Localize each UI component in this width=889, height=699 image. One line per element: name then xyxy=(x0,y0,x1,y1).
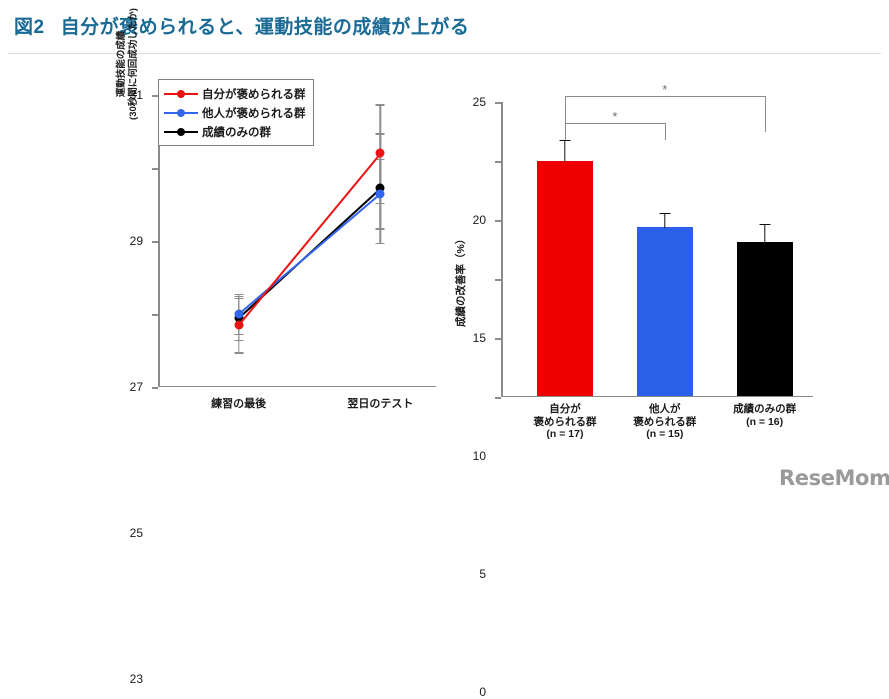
bar-chart: 成績の改善率（%） 0510152025自分が褒められる群(n = 17)他人が… xyxy=(445,77,845,437)
x-axis-label-line: 成績のみの群 xyxy=(733,403,796,416)
legend-label: 自分が褒められる群 xyxy=(202,86,306,102)
x-axis-tick-label: 翌日のテスト xyxy=(347,395,413,411)
x-axis-label-line: 褒められる群 xyxy=(633,416,696,429)
error-bar-cap xyxy=(234,340,243,341)
y-axis-tick-label: 27 xyxy=(130,380,143,394)
watermark-text: ReseMom xyxy=(779,466,889,490)
y-axis-tick: 25 xyxy=(152,314,158,316)
page-title: 図2自分が褒められると、運動技能の成績が上がる xyxy=(14,12,889,39)
significance-outer-star: * xyxy=(662,83,667,96)
error-bar-cap xyxy=(234,352,243,353)
data-point xyxy=(376,149,385,158)
bar xyxy=(537,161,593,396)
y-axis-tick-label: 5 xyxy=(479,567,486,581)
x-axis-label-line: (n = 16) xyxy=(733,416,796,429)
bar-chart-plot-area: 0510152025自分が褒められる群(n = 17)他人が褒められる群(n =… xyxy=(501,102,813,397)
legend-item: 他人が褒められる群 xyxy=(164,103,306,122)
bar-chart-y-axis-label: 成績の改善率（%） xyxy=(453,234,468,327)
error-bar xyxy=(564,140,565,162)
x-axis-label-line: 他人が xyxy=(633,403,696,416)
y-axis-tick: 5 xyxy=(495,338,501,340)
y-axis-tick-label: 31 xyxy=(130,88,143,102)
x-axis-label-line: (n = 17) xyxy=(533,428,596,441)
error-bar-cap xyxy=(234,296,243,297)
y-axis-label-line2: (30秒間に何回成功したか) xyxy=(128,0,140,169)
error-bar-cap xyxy=(659,213,670,214)
x-axis-label-line: 自分が xyxy=(533,403,596,416)
legend-marker-icon xyxy=(164,108,198,118)
line-chart-y-axis-label: 運動技能の成績 (30秒間に何回成功したか) xyxy=(116,0,140,169)
x-axis-tick-label: 他人が褒められる群(n = 15) xyxy=(633,403,696,441)
x-axis-label-line: 褒められる群 xyxy=(533,416,596,429)
data-line xyxy=(238,193,381,315)
y-axis-tick: 15 xyxy=(495,220,501,222)
bar-chart-y-axis xyxy=(501,102,503,397)
data-line xyxy=(238,153,381,326)
y-axis-tick-label: 23 xyxy=(130,672,143,686)
error-bar xyxy=(764,224,765,244)
y-axis-tick-label: 10 xyxy=(473,449,486,463)
legend-item: 自分が褒められる群 xyxy=(164,84,306,103)
y-axis-tick: 27 xyxy=(152,241,158,243)
legend-marker-icon xyxy=(164,127,198,137)
y-axis-tick: 20 xyxy=(495,161,501,163)
x-axis-tick-label: 自分が褒められる群(n = 17) xyxy=(533,403,596,441)
error-bar xyxy=(664,213,665,228)
line-chart: 運動技能の成績 (30秒間に何回成功したか) 2325272931練習の最後翌日… xyxy=(110,77,460,427)
significance-outer-tick xyxy=(765,96,766,132)
y-axis-label-line1: 運動技能の成績 xyxy=(116,0,128,169)
significance-inner-tick xyxy=(565,123,566,140)
x-axis-label-line: (n = 15) xyxy=(633,428,696,441)
y-axis-tick-label: 29 xyxy=(130,234,143,248)
resemom-watermark-logo: ReseMomリセマム. xyxy=(779,466,889,490)
legend-marker-icon xyxy=(164,89,198,99)
error-bar-cap xyxy=(376,243,385,244)
x-axis-tick-label: 成績のみの群(n = 16) xyxy=(733,403,796,428)
figure-number: 図2 xyxy=(14,17,45,38)
data-point xyxy=(234,310,243,319)
y-axis-tick: 25 xyxy=(495,102,501,104)
legend-label: 成績のみの群 xyxy=(202,124,271,140)
y-axis-tick-label: 25 xyxy=(473,95,486,109)
data-point xyxy=(376,189,385,198)
legend-item: 成績のみの群 xyxy=(164,122,306,141)
significance-inner-star: * xyxy=(612,110,617,123)
figure-area: 運動技能の成績 (30秒間に何回成功したか) 2325272931練習の最後翌日… xyxy=(0,57,889,449)
bar xyxy=(637,227,693,396)
data-point xyxy=(234,320,243,329)
y-axis-tick-label: 0 xyxy=(479,685,486,699)
y-axis-tick: 23 xyxy=(152,387,158,389)
y-axis-tick-label: 15 xyxy=(473,331,486,345)
y-axis-tick: 0 xyxy=(495,397,501,399)
bar-chart-x-axis xyxy=(501,396,813,398)
bar xyxy=(737,242,793,395)
line-chart-x-axis xyxy=(158,386,436,388)
y-axis-tick-label: 25 xyxy=(130,526,143,540)
error-bar-cap xyxy=(376,104,385,105)
error-bar-cap xyxy=(759,224,770,225)
y-axis-tick: 10 xyxy=(495,279,501,281)
y-axis-tick-label: 20 xyxy=(473,213,486,227)
y-axis-tick: 29 xyxy=(152,168,158,170)
significance-inner-tick xyxy=(665,123,666,140)
legend-label: 他人が褒められる群 xyxy=(202,105,306,121)
error-bar-cap xyxy=(376,133,385,134)
line-chart-legend: 自分が褒められる群 他人が褒められる群 成績のみの群 xyxy=(158,79,314,146)
x-axis-tick-label: 練習の最後 xyxy=(211,395,266,411)
figure-page: 図2自分が褒められると、運動技能の成績が上がる 運動技能の成績 (30秒間に何回… xyxy=(0,0,889,449)
